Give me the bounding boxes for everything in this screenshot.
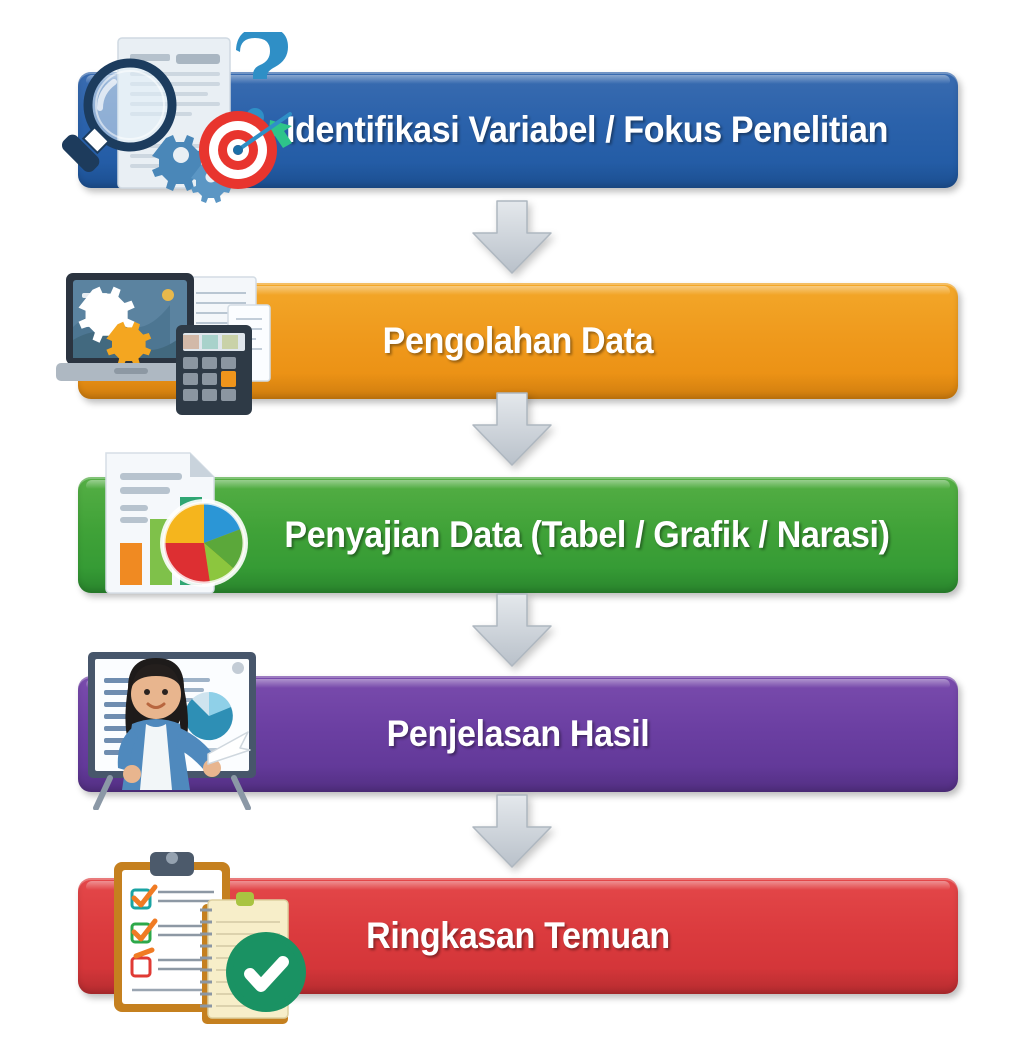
step-bar-penjelasan[interactable]: Penjelasan Hasil <box>78 676 958 792</box>
flow-step-4[interactable]: Penjelasan Hasil <box>0 664 1024 804</box>
flow-arrow-1 <box>466 199 558 277</box>
flowchart-diagram: Identifikasi Variabel / Fokus Penelitian <box>0 0 1024 1064</box>
step-label-5: Ringkasan Temuan <box>113 878 923 994</box>
step-label-3: Penyajian Data (Tabel / Grafik / Narasi) <box>113 477 923 593</box>
step-bar-identifikasi[interactable]: Identifikasi Variabel / Fokus Penelitian <box>78 72 958 188</box>
flow-arrow-3 <box>466 592 558 670</box>
flow-step-3[interactable]: Penyajian Data (Tabel / Grafik / Narasi) <box>0 465 1024 605</box>
step-bar-pengolahan[interactable]: Pengolahan Data <box>78 283 958 399</box>
step-bar-ringkasan[interactable]: Ringkasan Temuan <box>78 878 958 994</box>
step-label-2: Pengolahan Data <box>113 283 923 399</box>
flow-arrow-2 <box>466 391 558 469</box>
flow-arrow-4 <box>466 793 558 871</box>
flow-step-1[interactable]: Identifikasi Variabel / Fokus Penelitian <box>0 60 1024 200</box>
step-label-4: Penjelasan Hasil <box>113 676 923 792</box>
step-label-1: Identifikasi Variabel / Fokus Penelitian <box>113 72 923 188</box>
step-bar-penyajian[interactable]: Penyajian Data (Tabel / Grafik / Narasi) <box>78 477 958 593</box>
flow-step-2[interactable]: Pengolahan Data <box>0 271 1024 411</box>
flow-step-5[interactable]: Ringkasan Temuan <box>0 866 1024 1006</box>
